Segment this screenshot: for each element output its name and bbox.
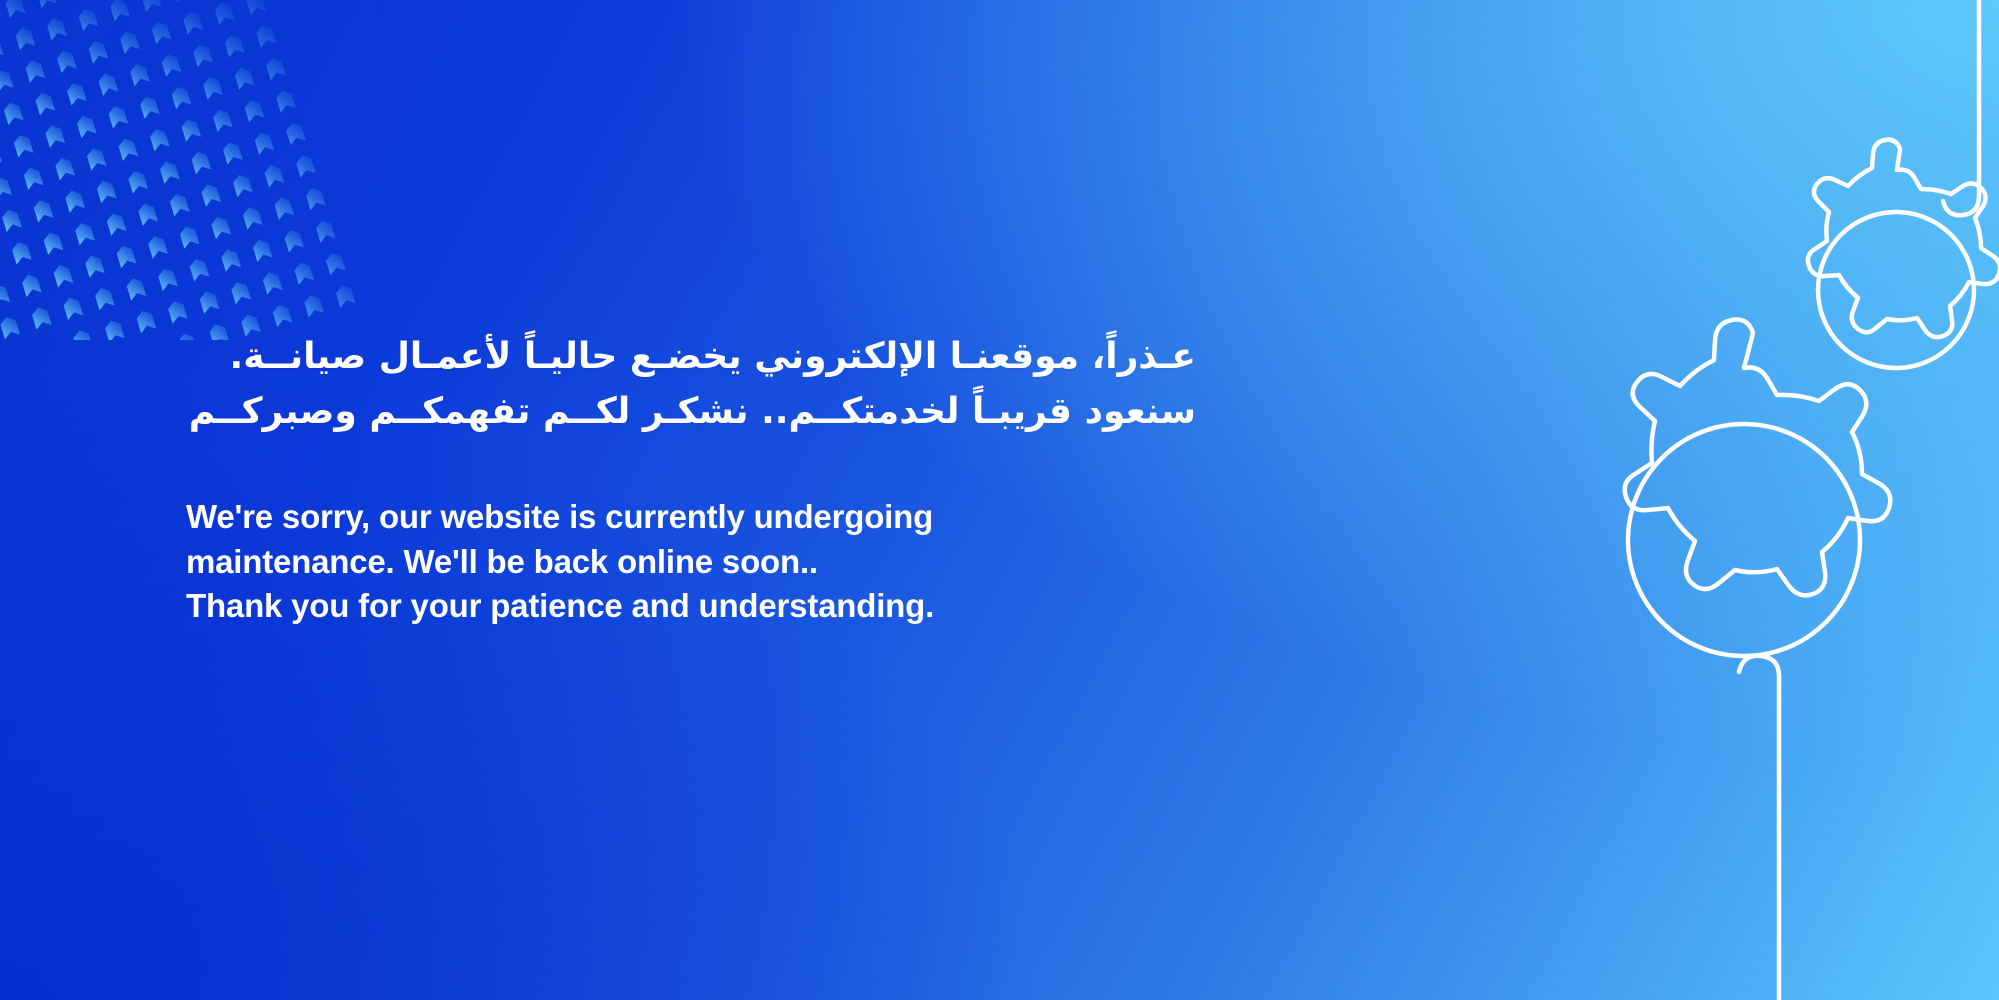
arabic-message: عـذراً، موقعنـا الإلكتروني يخضـع حاليـاً… (186, 330, 1196, 439)
arabic-line-1: عـذراً، موقعنـا الإلكتروني يخضـع حاليـاً… (186, 330, 1196, 385)
english-line-2: maintenance. We'll be back online soon.. (186, 540, 1196, 584)
english-message: We're sorry, our website is currently un… (186, 439, 1196, 628)
english-line-3: Thank you for your patience and understa… (186, 584, 1196, 628)
arabic-line-2: سنعود قريبـاً لخدمتكــم.. نشكـر لكــم تف… (186, 385, 1196, 440)
maintenance-page: عـذراً، موقعنـا الإلكتروني يخضـع حاليـاً… (0, 0, 1999, 1000)
english-line-1: We're sorry, our website is currently un… (186, 495, 1196, 539)
maintenance-copy: عـذراً، موقعنـا الإلكتروني يخضـع حاليـاً… (186, 330, 1196, 628)
